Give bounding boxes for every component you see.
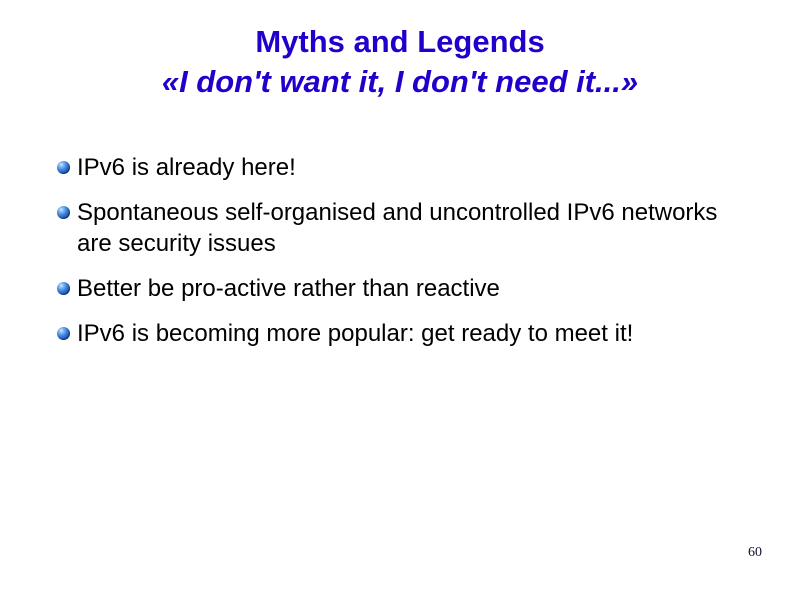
bullet-sphere-icon <box>57 206 70 219</box>
page-number: 60 <box>748 545 762 561</box>
slide-title: Myths and Legends «I don't want it, I do… <box>0 22 800 102</box>
slide-canvas: Myths and Legends «I don't want it, I do… <box>0 0 800 600</box>
list-item: IPv6 is becoming more popular: get ready… <box>55 318 755 349</box>
list-item-label: IPv6 is becoming more popular: get ready… <box>77 318 755 349</box>
title-line-primary: Myths and Legends <box>0 22 800 62</box>
title-line-quote: «I don't want it, I don't need it...» <box>0 62 800 102</box>
list-item: IPv6 is already here! <box>55 152 755 183</box>
list-item-label: Better be pro-active rather than reactiv… <box>77 273 755 304</box>
list-item-label: IPv6 is already here! <box>77 152 755 183</box>
bullet-sphere-icon <box>57 282 70 295</box>
bullet-list: IPv6 is already here! Spontaneous self-o… <box>55 152 755 349</box>
bullet-sphere-icon <box>57 327 70 340</box>
list-item-label: Spontaneous self-organised and uncontrol… <box>77 197 755 259</box>
list-item: Spontaneous self-organised and uncontrol… <box>55 197 755 259</box>
bullet-sphere-icon <box>57 161 70 174</box>
list-item: Better be pro-active rather than reactiv… <box>55 273 755 304</box>
